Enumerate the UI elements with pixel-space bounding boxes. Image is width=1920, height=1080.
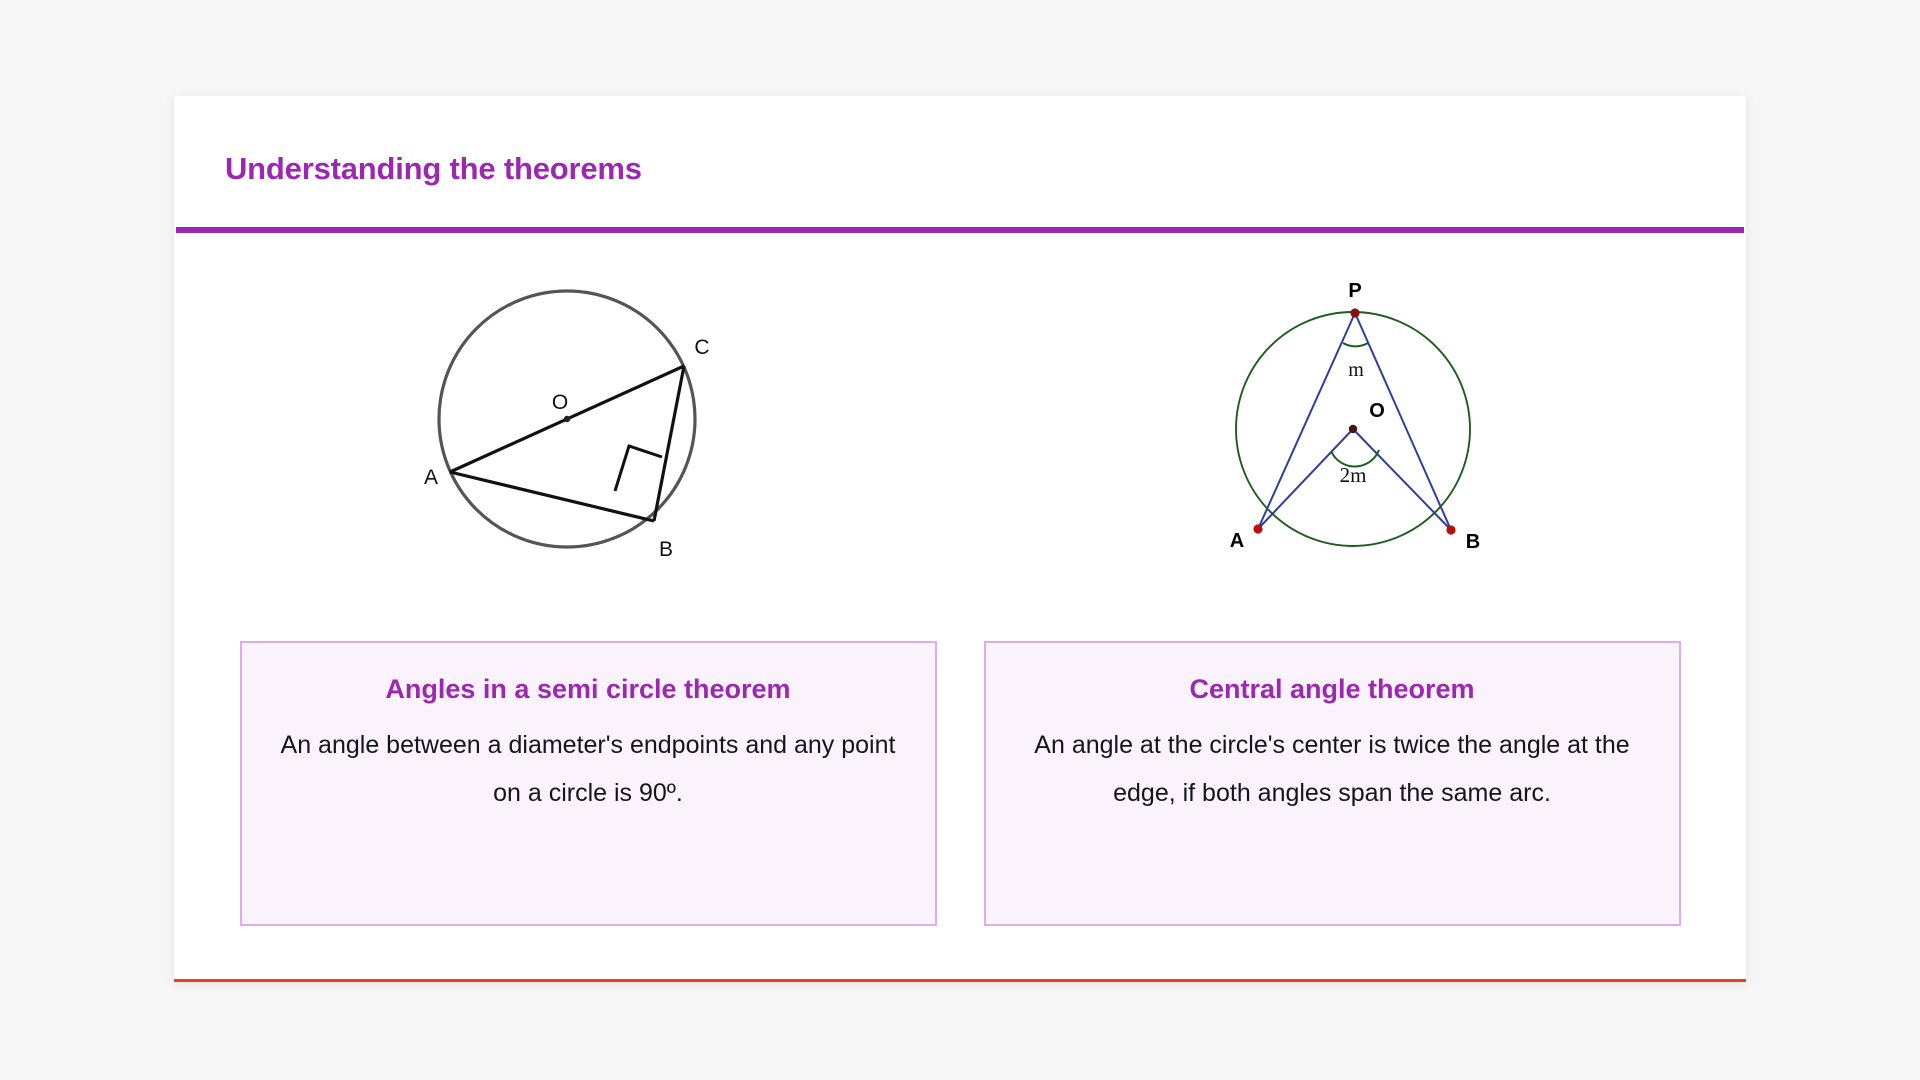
label-inscribed-angle-m: m [1348, 359, 1364, 381]
label-point-A: A [1230, 530, 1244, 552]
label-point-B: B [1466, 531, 1480, 553]
page-root: Understanding the theorems [0, 0, 1920, 1080]
point-dot-A [1253, 524, 1262, 533]
label-point-C: C [694, 336, 709, 359]
theorem-card-body: An angle at the circle's center is twice… [1012, 721, 1653, 817]
theorem-card-heading: Central angle theorem [1012, 671, 1653, 707]
label-point-A: A [424, 466, 438, 489]
title-divider [176, 227, 1744, 233]
lesson-panel: Understanding the theorems [174, 96, 1746, 982]
line-PA [1258, 313, 1355, 529]
theorem-card-heading: Angles in a semi circle theorem [268, 671, 909, 707]
page-title: Understanding the theorems [225, 151, 642, 187]
right-angle-mark-icon [615, 446, 662, 491]
label-center-O: O [552, 391, 568, 414]
theorem-card-body: An angle between a diameter's endpoints … [268, 721, 909, 817]
label-point-B: B [659, 538, 673, 561]
semi-circle-theorem-diagram: O A B C [417, 269, 717, 569]
theorem-cards-row: Angles in a semi circle theorem An angle… [174, 641, 1746, 926]
theorem-card-central-angle[interactable]: Central angle theorem An angle at the ci… [984, 641, 1681, 926]
diagrams-row: O A B C [174, 251, 1746, 586]
theorem-card-semi-circle[interactable]: Angles in a semi circle theorem An angle… [240, 641, 937, 926]
point-dot-B [1446, 525, 1455, 534]
center-point-dot [564, 415, 570, 421]
diagram-cell-left: O A B C [174, 251, 960, 586]
center-point-dot [1349, 424, 1357, 432]
diagram-cell-right: P O A B m 2m [960, 251, 1746, 586]
point-dot-P [1350, 308, 1359, 317]
angle-arc-at-P [1343, 343, 1368, 346]
label-center-O: O [1369, 400, 1385, 422]
radius-OB [1353, 429, 1451, 530]
central-angle-theorem-diagram: P O A B m 2m [1203, 269, 1503, 569]
label-point-P: P [1348, 280, 1361, 302]
label-central-angle-2m: 2m [1340, 463, 1367, 487]
